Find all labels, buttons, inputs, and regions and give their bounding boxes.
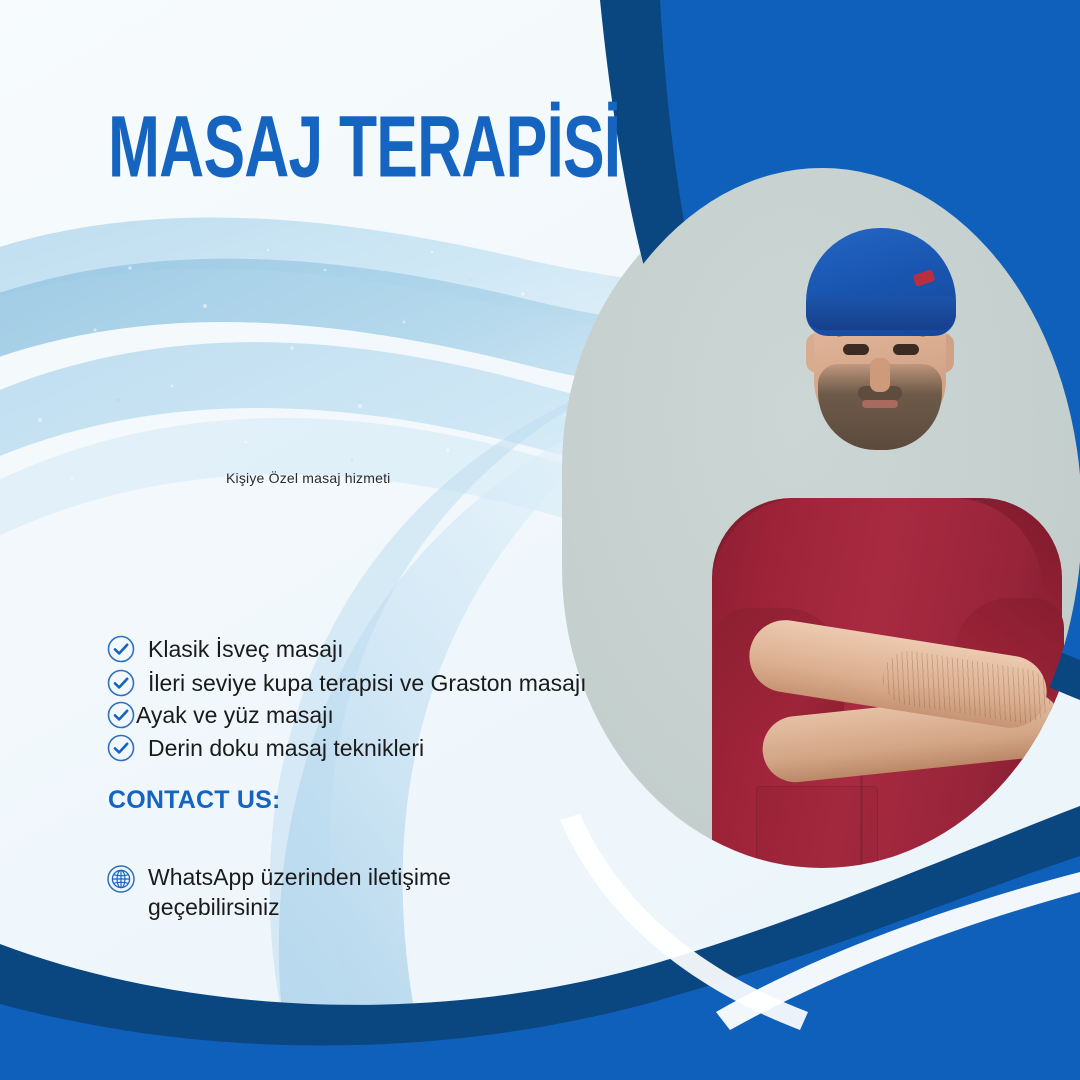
- check-circle-icon: [106, 733, 136, 763]
- list-item[interactable]: Klasik İsveç masajı: [106, 634, 344, 664]
- list-item-label: İleri seviye kupa terapisi ve Graston ma…: [148, 670, 586, 697]
- globe-icon: [106, 864, 136, 894]
- contact-heading: CONTACT US:: [108, 786, 281, 815]
- list-item[interactable]: Ayak ve yüz masajı: [106, 700, 334, 730]
- poster-canvas: MASAJ TERAPİSİ Kişiye Özel masaj hizmeti…: [0, 0, 1080, 1080]
- list-item[interactable]: İleri seviye kupa terapisi ve Graston ma…: [106, 668, 586, 698]
- page-title: MASAJ TERAPİSİ: [108, 96, 620, 198]
- list-item-label: Ayak ve yüz masajı: [136, 702, 334, 729]
- subtitle-text: Kişiye Özel masaj hizmeti: [226, 470, 391, 486]
- check-circle-icon: [106, 634, 136, 664]
- list-item-label: Derin doku masaj teknikleri: [148, 735, 424, 762]
- contact-text: WhatsApp üzerinden iletişime geçebilirsi…: [148, 862, 478, 922]
- contact-row[interactable]: WhatsApp üzerinden iletişime geçebilirsi…: [106, 862, 478, 922]
- list-item-label: Klasik İsveç masajı: [148, 636, 344, 663]
- check-circle-icon: [106, 668, 136, 698]
- list-item[interactable]: Derin doku masaj teknikleri: [106, 733, 424, 763]
- check-circle-icon: [106, 700, 136, 730]
